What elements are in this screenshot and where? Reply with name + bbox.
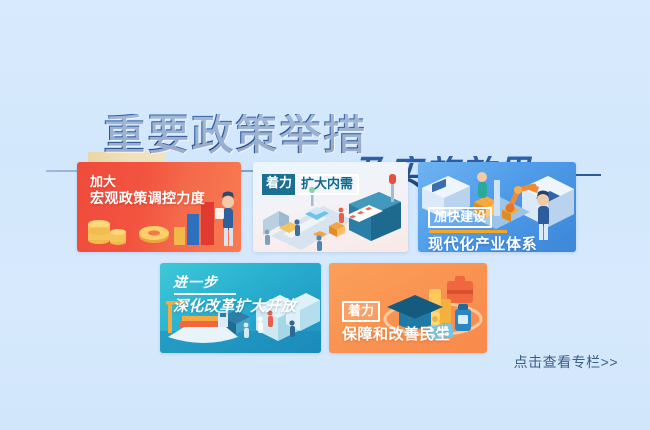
card-3-line2: 现代化产业体系 [428, 236, 537, 252]
card-1-line1: 加大 [90, 174, 205, 190]
card-4-text: 进一步 深化改革扩大开放 [173, 274, 296, 316]
card-4-line1: 进一步 [173, 274, 296, 291]
banner-title-block: 重要政策举措 及实施效果 [0, 56, 650, 152]
card-deepen-reform-opening-up[interactable]: 进一步 深化改革扩大开放 [160, 263, 321, 353]
view-column-link[interactable]: 点击查看专栏>> [514, 352, 618, 372]
card-5-text: 着力 保障和改善民生 [342, 301, 451, 344]
card-expand-domestic-demand[interactable]: 着力 扩大内需 [253, 162, 408, 252]
card-macro-policy-regulation[interactable]: 加大 宏观政策调控力度 [77, 162, 241, 252]
policy-banner: 重要政策举措 及实施效果 [0, 0, 650, 430]
card-3-accent-underline [429, 230, 507, 233]
card-safeguard-improve-livelihood[interactable]: 着力 保障和改善民生 [329, 263, 487, 353]
card-2-line2: 扩大内需 [295, 174, 359, 195]
card-2-text: 着力 扩大内需 [262, 174, 359, 195]
card-3-line1: 加快建设 [428, 207, 492, 228]
card-modern-industrial-system[interactable]: 加快建设 现代化产业体系 [418, 162, 576, 252]
card-2-line1: 着力 [262, 174, 296, 195]
card-5-line2: 保障和改善民生 [342, 326, 451, 344]
card-1-text: 加大 宏观政策调控力度 [90, 174, 205, 207]
page-title-line1: 重要政策举措 [103, 114, 367, 156]
card-4-accent-underline [174, 293, 236, 295]
card-1-line2: 宏观政策调控力度 [90, 190, 205, 207]
card-3-text: 加快建设 现代化产业体系 [428, 207, 537, 252]
card-5-line1: 着力 [342, 301, 380, 322]
card-4-line2: 深化改革扩大开放 [173, 298, 296, 316]
